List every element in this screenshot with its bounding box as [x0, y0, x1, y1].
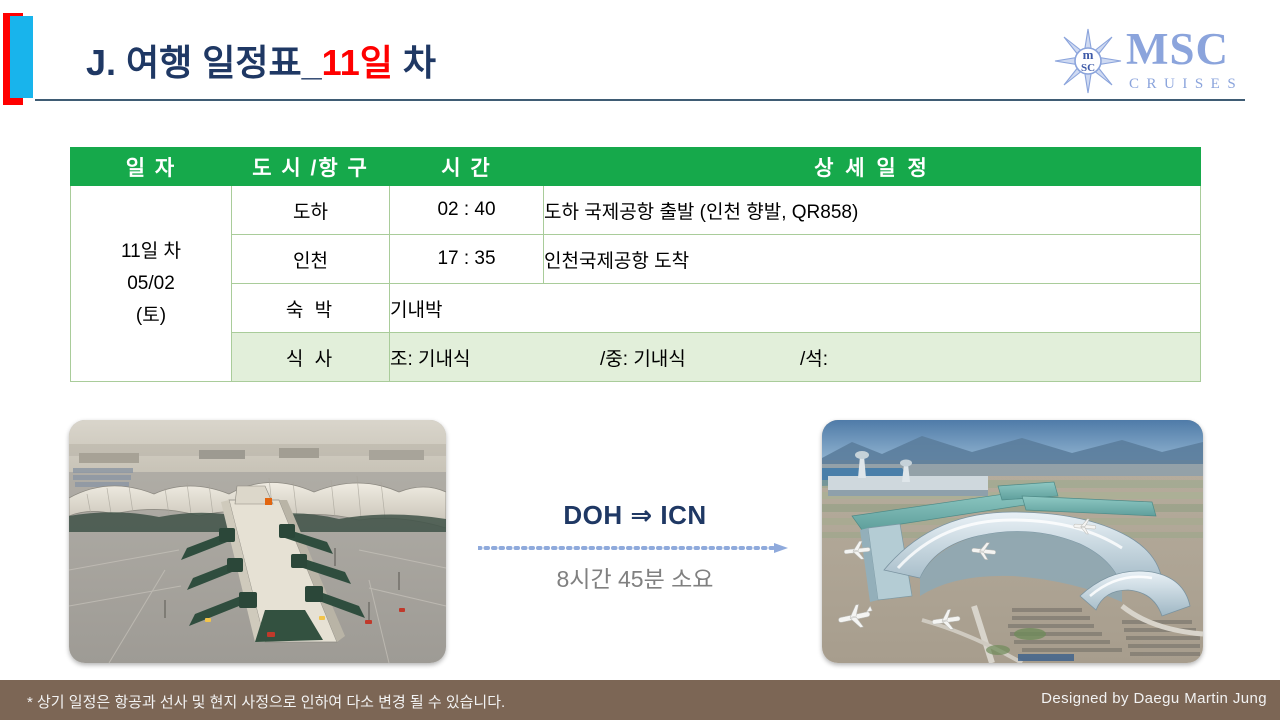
- column-header-date: 일 자: [71, 148, 232, 186]
- cell-detail-0: 도하 국제공항 출발 (인천 향발, QR858): [544, 186, 1201, 235]
- footer-disclaimer-note: * 상기 일정은 항공과 선사 및 현지 사정으로 인하여 다소 변경 될 수 …: [27, 691, 505, 712]
- accent-bar-cyan: [10, 16, 33, 98]
- flight-duration-label: 8시간 45분 소요: [470, 560, 800, 594]
- cell-detail-2: 기내박: [390, 284, 1201, 333]
- flight-route-label: DOH ⇒ ICN: [470, 500, 800, 531]
- page-title-underscore: _: [302, 42, 322, 83]
- flight-arrow-icon: [478, 540, 788, 550]
- cell-time-0: 02 : 40: [390, 186, 544, 235]
- msc-emblem-sc: SC: [1081, 62, 1095, 74]
- cell-detail-1: 인천국제공항 도착: [544, 235, 1201, 284]
- msc-subwordmark: CRUISES: [1129, 76, 1243, 93]
- table-row-meal: 식 사 조: 기내식 /중: 기내식 /석:: [71, 333, 1201, 382]
- meal-breakfast: 조: 기내식: [390, 344, 600, 371]
- cell-date-group: 11일 차 05/02 (토): [71, 186, 232, 382]
- date-line-3: (토): [71, 300, 231, 332]
- table-row: 11일 차 05/02 (토) 도하 02 : 40 도하 국제공항 출발 (인…: [71, 186, 1201, 235]
- msc-cruises-logo: m SC MSC CRUISES: [1054, 26, 1254, 98]
- header-divider-rule: [35, 99, 1245, 101]
- column-header-time: 시 간: [390, 148, 544, 186]
- msc-compass-star-icon: m SC: [1054, 28, 1122, 94]
- msc-wordmark: MSC: [1126, 26, 1229, 72]
- column-header-city: 도 시 /항 구: [232, 148, 390, 186]
- column-header-detail: 상 세 일 정: [544, 148, 1201, 186]
- msc-emblem-m: m: [1083, 47, 1094, 62]
- slide-header: J. 여행 일정표_11일 차 m SC: [0, 0, 1280, 104]
- footer-bar: * 상기 일정은 항공과 선사 및 현지 사정으로 인하여 다소 변경 될 수 …: [0, 680, 1280, 720]
- cell-detail-3: 조: 기내식 /중: 기내식 /석:: [390, 333, 1201, 382]
- cell-place-3: 식 사: [232, 333, 390, 382]
- page-title-day-accent: 11일: [322, 42, 393, 83]
- meal-dinner: /석:: [800, 344, 828, 371]
- date-line-2: 05/02: [71, 268, 231, 300]
- table-row: 인천 17 : 35 인천국제공항 도착: [71, 235, 1201, 284]
- table-header-row: 일 자 도 시 /항 구 시 간 상 세 일 정: [71, 148, 1201, 186]
- table-row: 숙 박 기내박: [71, 284, 1201, 333]
- cell-place-1: 인천: [232, 235, 390, 284]
- cell-place-2: 숙 박: [232, 284, 390, 333]
- date-line-1: 11일 차: [71, 236, 231, 268]
- page-title: J. 여행 일정표_11일 차: [86, 34, 436, 86]
- photo-incheon-airport: [822, 420, 1203, 663]
- footer-credit: Designed by Daegu Martin Jung: [1041, 690, 1267, 707]
- meal-lunch: /중: 기내식: [600, 344, 800, 371]
- cell-time-1: 17 : 35: [390, 235, 544, 284]
- itinerary-table: 일 자 도 시 /항 구 시 간 상 세 일 정 11일 차 05/02 (토)…: [70, 147, 1201, 382]
- page-title-prefix: J. 여행 일정표: [86, 42, 302, 83]
- photo-doha-airport: [69, 420, 446, 663]
- cell-place-0: 도하: [232, 186, 390, 235]
- page-title-suffix: 차: [393, 42, 436, 83]
